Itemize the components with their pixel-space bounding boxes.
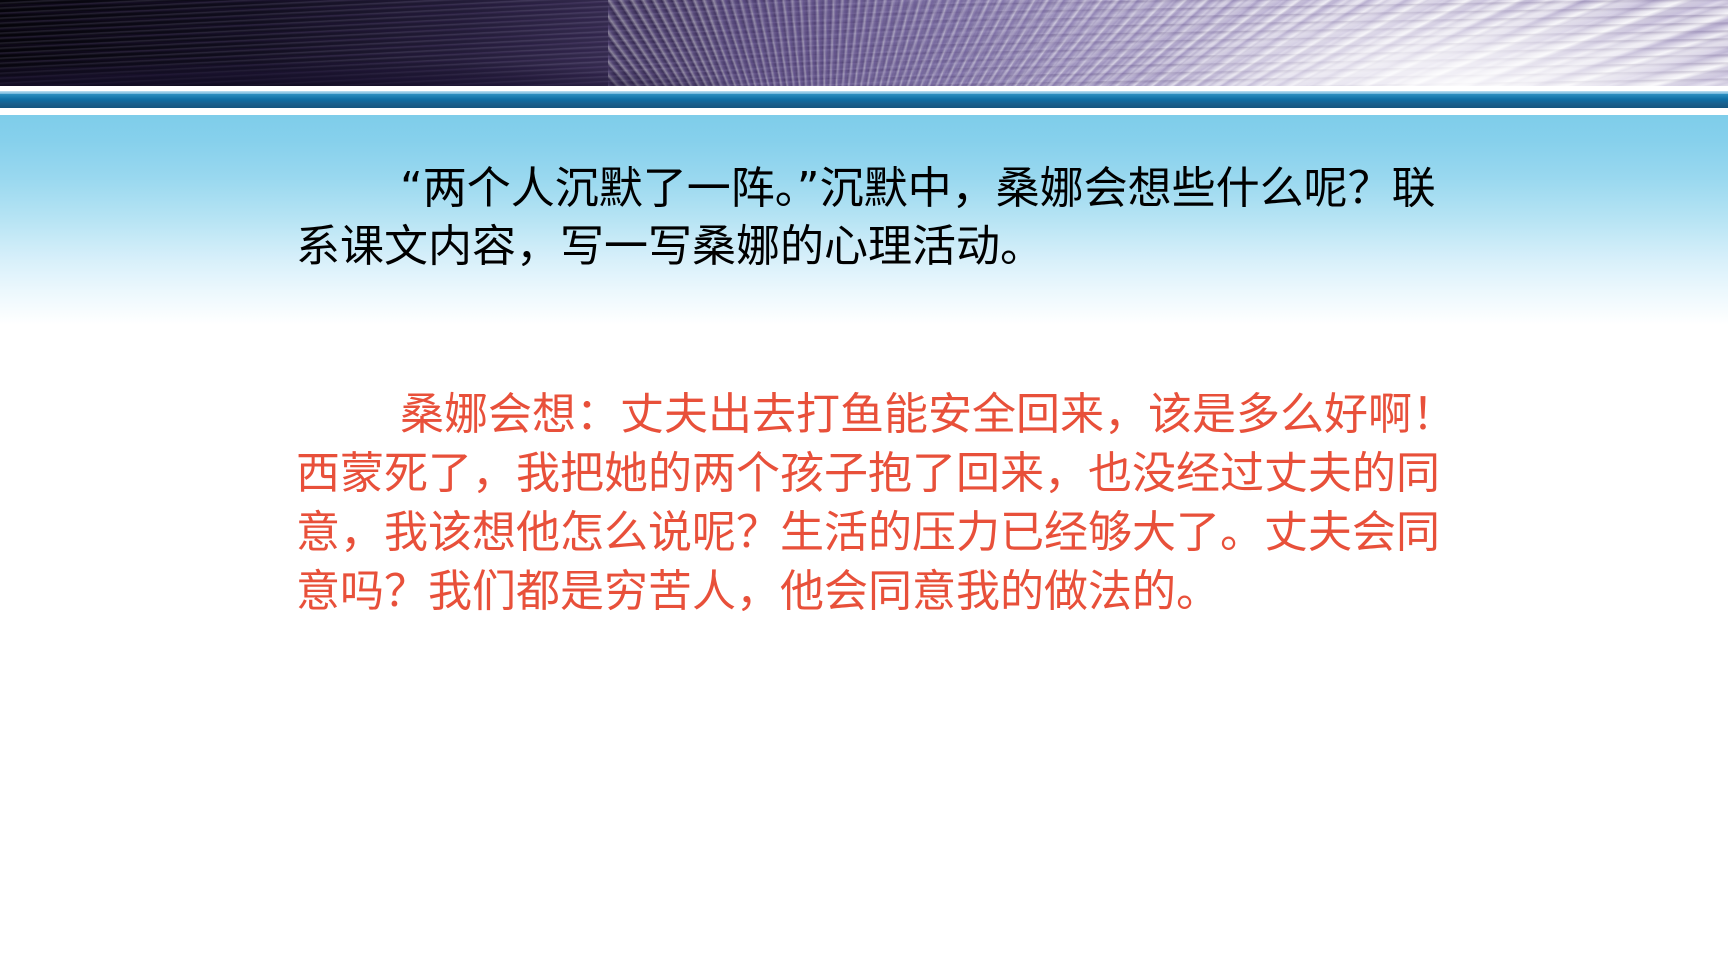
- answer-paragraph: 桑娜会想：丈夫出去打鱼能安全回来，该是多么好啊！西蒙死了，我把她的两个孩子抱了回…: [296, 385, 1476, 621]
- slide-text-layer: “两个人沉默了一阵。”沉默中，桑娜会想些什么呢？联系课文内容，写一写桑娜的心理活…: [0, 0, 1728, 972]
- slide-canvas: “两个人沉默了一阵。”沉默中，桑娜会想些什么呢？联系课文内容，写一写桑娜的心理活…: [0, 0, 1728, 972]
- prompt-paragraph: “两个人沉默了一阵。”沉默中，桑娜会想些什么呢？联系课文内容，写一写桑娜的心理活…: [296, 160, 1476, 276]
